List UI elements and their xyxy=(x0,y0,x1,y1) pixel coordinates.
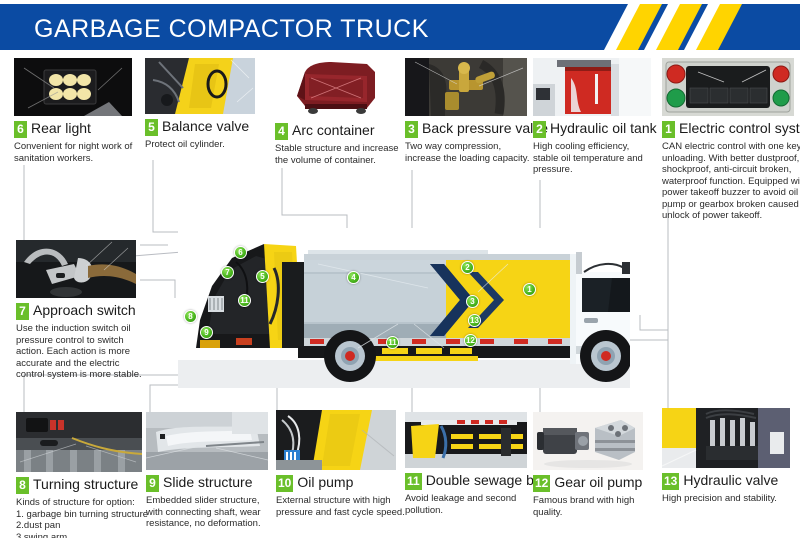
arc-container-photo xyxy=(275,58,393,118)
card-title: Arc container xyxy=(292,122,374,138)
card-description: High cooling efficiency, stable oil temp… xyxy=(533,141,651,176)
badge-number: 10 xyxy=(276,475,293,492)
feature-card-approach-switch[interactable]: 7 Approach switch Use the induction swit… xyxy=(16,240,136,381)
badge-number: 1 xyxy=(662,121,675,138)
badge-number: 7 xyxy=(16,303,29,320)
badge-number: 6 xyxy=(14,121,27,138)
card-head: 13 Hydraulic valve xyxy=(662,472,790,490)
card-head: 4 Arc container xyxy=(275,122,393,140)
truck-marker-4[interactable]: 4 xyxy=(347,271,360,284)
garbage-compactor-truck-illustration: 6 7 5 11 8 9 4 11 2 3 13 12 1 xyxy=(178,228,630,388)
feature-card-arc-container[interactable]: 4 Arc container Stable structure and inc… xyxy=(275,58,393,166)
feature-card-balance-valve[interactable]: 5 Balance valve Protect oil cylinder. xyxy=(145,58,255,151)
truck-marker-9[interactable]: 9 xyxy=(200,326,213,339)
truck-marker-11-upper[interactable]: 11 xyxy=(238,294,251,307)
approach-switch-photo xyxy=(16,240,136,298)
card-head: 6 Rear light xyxy=(14,120,132,138)
card-description: High precision and stability. xyxy=(662,493,790,505)
card-head: 7 Approach switch xyxy=(16,302,136,320)
page-header: GARBAGE COMPACTOR TRUCK xyxy=(0,4,800,50)
page-title: GARBAGE COMPACTOR TRUCK xyxy=(34,15,429,44)
feature-card-turning-structure[interactable]: 8 Turning structure Kinds of structure f… xyxy=(16,412,142,538)
badge-number: 11 xyxy=(405,473,422,490)
card-description: Kinds of structure for option: 1. garbag… xyxy=(16,497,142,538)
card-head: 12 Gear oil pump xyxy=(533,474,643,492)
card-head: 9 Slide structure xyxy=(146,474,268,492)
card-description: Convenient for night work of sanitation … xyxy=(14,141,132,164)
oil-pump-photo xyxy=(276,410,396,470)
truck-marker-2[interactable]: 2 xyxy=(461,261,474,274)
feature-card-electric-control-system[interactable]: 1 Electric control system CAN electric c… xyxy=(662,58,794,222)
badge-number: 4 xyxy=(275,123,288,140)
turning-structure-photo xyxy=(16,412,142,472)
card-description: CAN electric control with one key unload… xyxy=(662,141,794,222)
card-title: Oil pump xyxy=(297,474,353,490)
card-description: Embedded slider structure, with connecti… xyxy=(146,495,268,530)
card-head: 1 Electric control system xyxy=(662,120,794,138)
card-title: Electric control system xyxy=(679,120,800,136)
truck-marker-11-lower[interactable]: 11 xyxy=(386,336,399,349)
truck-marker-5[interactable]: 5 xyxy=(256,270,269,283)
truck-marker-1[interactable]: 1 xyxy=(523,283,536,296)
truck-marker-8[interactable]: 8 xyxy=(184,310,197,323)
card-description: Stable structure and increase the volume… xyxy=(275,143,393,166)
badge-number: 2 xyxy=(533,121,546,138)
card-title: Approach switch xyxy=(33,302,136,318)
slide-structure-photo xyxy=(146,412,268,470)
feature-card-hydraulic-oil-tank[interactable]: 2 Hydraulic oil tank High cooling effici… xyxy=(533,58,651,176)
card-head: 8 Turning structure xyxy=(16,476,142,494)
double-sewage-box-photo xyxy=(405,412,527,468)
truck-marker-13[interactable]: 13 xyxy=(468,314,481,327)
badge-number: 13 xyxy=(662,473,679,490)
feature-card-rear-light[interactable]: 6 Rear light Convenient for night work o… xyxy=(14,58,132,164)
feature-card-slide-structure[interactable]: 9 Slide structure Embedded slider struct… xyxy=(146,412,268,530)
hydraulic-valve-photo xyxy=(662,408,790,468)
truck-marker-7[interactable]: 7 xyxy=(221,266,234,279)
card-head: 11 Double sewage box xyxy=(405,472,527,490)
infographic-root: GARBAGE COMPACTOR TRUCK xyxy=(0,0,800,538)
card-description: External structure with high pressure an… xyxy=(276,495,396,518)
card-title: Double sewage box xyxy=(426,472,549,488)
card-title: Hydraulic oil tank xyxy=(550,120,657,136)
card-description: Use the induction switch oil pressure co… xyxy=(16,323,136,381)
header-stripes-decoration xyxy=(600,4,800,50)
card-title: Slide structure xyxy=(163,474,252,490)
card-description: Two way compression, increase the loadin… xyxy=(405,141,527,164)
feature-card-gear-oil-pump[interactable]: 12 Gear oil pump Famous brand with high … xyxy=(533,412,643,518)
electric-control-system-photo xyxy=(662,58,794,116)
card-head: 5 Balance valve xyxy=(145,118,255,136)
card-description: Avoid leakage and second pollution. xyxy=(405,493,527,516)
balance-valve-photo xyxy=(145,58,255,114)
card-description: Protect oil cylinder. xyxy=(145,139,255,151)
truck-marker-6[interactable]: 6 xyxy=(234,246,247,259)
back-pressure-valve-photo xyxy=(405,58,527,116)
feature-card-back-pressure-valve[interactable]: 3 Back pressure valve Two way compressio… xyxy=(405,58,527,164)
truck-marker-3[interactable]: 3 xyxy=(466,295,479,308)
badge-number: 5 xyxy=(145,119,158,136)
card-head: 10 Oil pump xyxy=(276,474,396,492)
hydraulic-oil-tank-photo xyxy=(533,58,651,116)
card-description: Famous brand with high quality. xyxy=(533,495,643,518)
badge-number: 3 xyxy=(405,121,418,138)
card-title: Balance valve xyxy=(162,118,249,134)
badge-number: 12 xyxy=(533,475,550,492)
truck-marker-12[interactable]: 12 xyxy=(464,334,477,347)
card-head: 3 Back pressure valve xyxy=(405,120,527,138)
card-title: Back pressure valve xyxy=(422,120,548,136)
card-title: Gear oil pump xyxy=(554,474,642,490)
card-title: Hydraulic valve xyxy=(683,472,778,488)
card-head: 2 Hydraulic oil tank xyxy=(533,120,651,138)
card-title: Rear light xyxy=(31,120,91,136)
feature-card-double-sewage-box[interactable]: 11 Double sewage box Avoid leakage and s… xyxy=(405,412,527,516)
feature-card-hydraulic-valve[interactable]: 13 Hydraulic valve High precision and st… xyxy=(662,408,790,505)
badge-number: 8 xyxy=(16,477,29,494)
rear-light-photo xyxy=(14,58,132,116)
gear-oil-pump-photo xyxy=(533,412,643,470)
feature-card-oil-pump[interactable]: 10 Oil pump External structure with high… xyxy=(276,410,396,518)
card-title: Turning structure xyxy=(33,476,138,492)
badge-number: 9 xyxy=(146,475,159,492)
